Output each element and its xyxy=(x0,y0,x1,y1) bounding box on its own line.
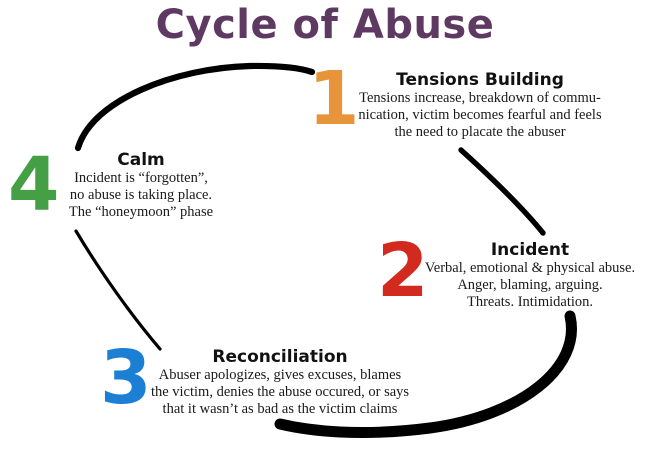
arc-reconciliation-to-calm xyxy=(76,231,160,349)
stage-description-2-line-1: Verbal, emotional & physical abuse. xyxy=(412,260,648,277)
stage-description-3-line-2: the victim, denies the abuse occured, or… xyxy=(135,384,425,401)
stage-description-1: Tensions increase, breakdown of commu- n… xyxy=(335,90,625,141)
stage-description-3-line-1: Abuser apologizes, gives excuses, blames xyxy=(135,367,425,384)
arc-tensions-to-incident xyxy=(461,150,543,233)
stage-description-1-line-1: Tensions increase, breakdown of commu- xyxy=(335,90,625,107)
stage-description-3-line-3: that it wasn’t as bad as the victim clai… xyxy=(135,401,425,418)
stage-description-1-line-2: nication, victim becomes fearful and fee… xyxy=(335,107,625,124)
stage-description-2-line-3: Threats. Intimidation. xyxy=(412,294,648,311)
stage-block-reconciliation: Reconciliation Abuser apologizes, gives … xyxy=(135,347,425,418)
stage-heading-4: Calm xyxy=(48,150,234,170)
page-title: Cycle of Abuse xyxy=(0,2,650,48)
stage-description-4-line-1: Incident is “forgotten”, xyxy=(48,170,234,187)
stage-description-4-line-3: The “honeymoon” phase xyxy=(48,204,234,221)
arc-calm-to-tensions xyxy=(78,66,312,148)
stage-block-tensions-building: Tensions Building Tensions increase, bre… xyxy=(335,70,625,141)
stage-description-4: Incident is “forgotten”, no abuse is tak… xyxy=(48,170,234,221)
stage-heading-1: Tensions Building xyxy=(335,70,625,90)
cycle-of-abuse-diagram: Cycle of Abuse 1 Tensions Building Tensi… xyxy=(0,0,650,452)
stage-description-2-line-2: Anger, blaming, arguing. xyxy=(412,277,648,294)
stage-block-calm: Calm Incident is “forgotten”, no abuse i… xyxy=(48,150,234,221)
stage-description-4-line-2: no abuse is taking place. xyxy=(48,187,234,204)
stage-description-1-line-3: the need to placate the abuser xyxy=(335,124,625,141)
stage-description-3: Abuser apologizes, gives excuses, blames… xyxy=(135,367,425,418)
stage-heading-2: Incident xyxy=(412,240,648,260)
stage-heading-3: Reconciliation xyxy=(135,347,425,367)
stage-description-2: Verbal, emotional & physical abuse. Ange… xyxy=(412,260,648,311)
stage-block-incident: Incident Verbal, emotional & physical ab… xyxy=(412,240,648,311)
